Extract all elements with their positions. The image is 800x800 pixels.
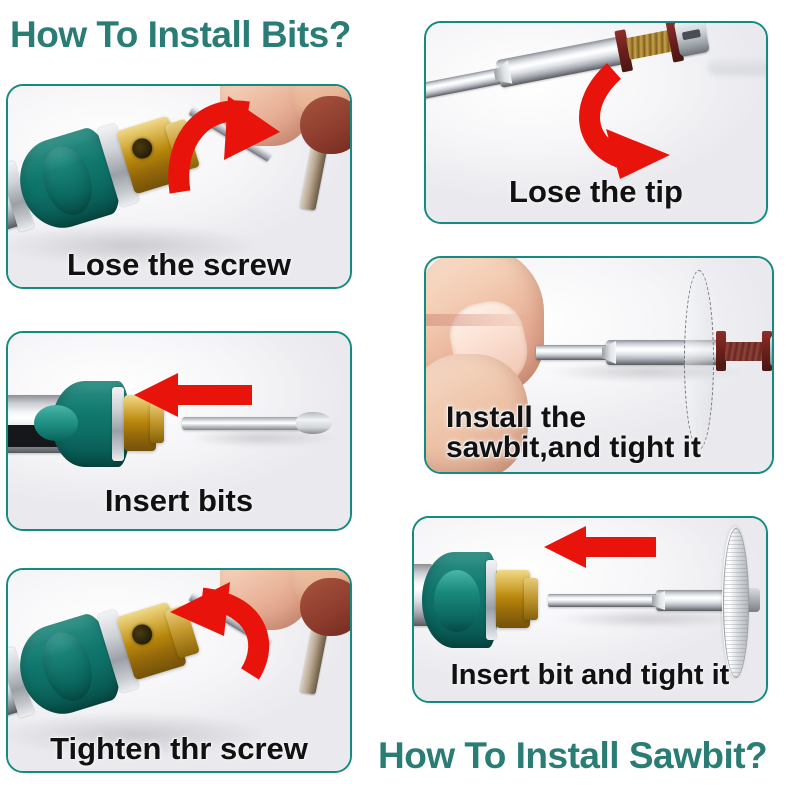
saw-blade-teeth — [723, 528, 749, 678]
screw-head — [770, 335, 774, 367]
instruction-graphic: How To Install Bits? How To Install Sawb… — [0, 0, 800, 800]
grip-waist-shade — [434, 570, 480, 632]
heading-how-to-install-bits: How To Install Bits? — [10, 16, 351, 53]
arrow-rotate-loosen — [168, 96, 288, 206]
caption-step-6: Insert bit and tight it — [414, 661, 766, 691]
panel-step-1-lose-the-screw: Lose the screw — [6, 84, 352, 289]
arrow-rotate-loosen-tip — [584, 59, 692, 175]
finger-crease — [424, 314, 532, 326]
caption-step-3: Tighten thr screw — [8, 733, 350, 765]
screw-thread — [626, 30, 673, 60]
tool-ring-front — [112, 387, 124, 461]
arrow-insert-left — [544, 526, 656, 568]
caption-step-5: Install the sawbit,and tight it — [446, 403, 762, 464]
brass-collet-nose — [524, 578, 538, 620]
panel-step-3-tighten-the-screw: Tighten thr screw — [6, 568, 352, 773]
panel-step-2-insert-bits: Insert bits — [6, 331, 352, 531]
finger-dark-fold — [300, 578, 352, 636]
panel-step-4-lose-the-tip: Lose the tip — [424, 21, 768, 224]
grip-inner-highlight — [34, 405, 78, 441]
caption-step-2: Insert bits — [8, 485, 350, 517]
tool-ring-front — [486, 560, 496, 640]
panel-step-6-insert-bit-and-tight-it: Insert bit and tight it — [412, 516, 768, 703]
panel-step-5-install-the-sawbit: Install the sawbit,and tight it — [424, 256, 774, 474]
finger-dark-fold — [300, 96, 352, 154]
background-blur-object — [708, 59, 768, 75]
caption-step-1: Lose the screw — [8, 249, 350, 281]
mandrel-thick-body — [656, 590, 730, 611]
caption-step-4: Lose the tip — [426, 176, 766, 208]
screw-thread — [725, 342, 763, 361]
heading-how-to-install-sawbit: How To Install Sawbit? — [378, 737, 767, 774]
arrow-insert-left — [134, 373, 252, 417]
mandrel-thin-shaft — [548, 594, 664, 607]
arrow-rotate-tighten — [158, 578, 280, 688]
screw-head — [674, 21, 710, 57]
